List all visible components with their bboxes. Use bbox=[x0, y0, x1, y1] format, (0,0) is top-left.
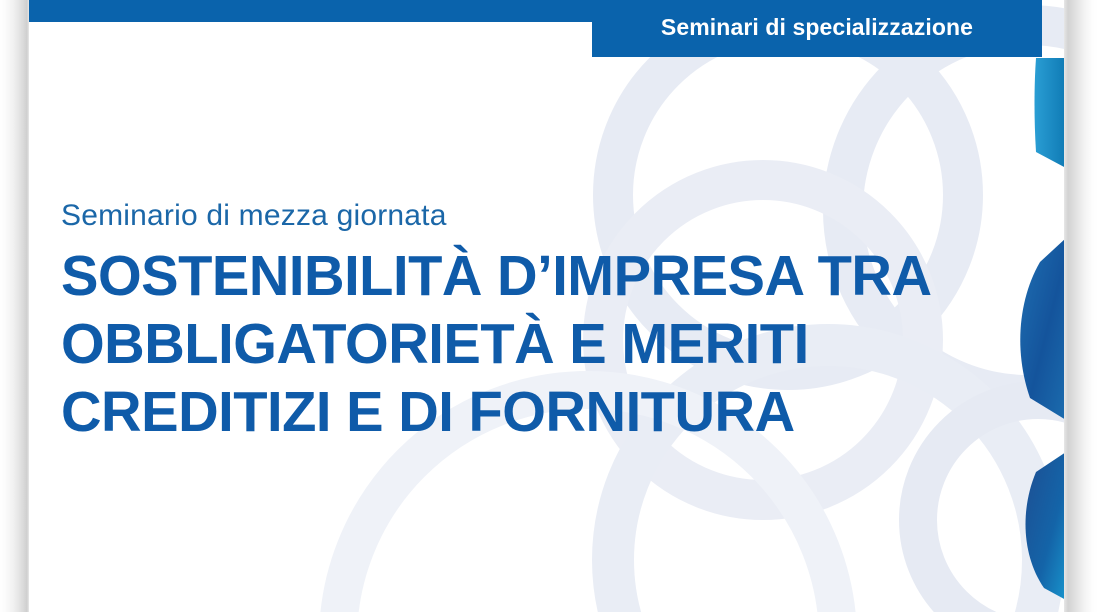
page-title: SOSTENIBILITÀ D’IMPRESA TRA OBBLIGATORIE… bbox=[61, 242, 977, 446]
title-block: Seminario di mezza giornata SOSTENIBILIT… bbox=[61, 196, 991, 446]
seminar-kicker: Seminario di mezza giornata bbox=[61, 196, 991, 236]
page-title-line-3: CREDITIZI E DI FORNITURA bbox=[61, 378, 977, 446]
page-title-line-1: SOSTENIBILITÀ D’IMPRESA TRA bbox=[61, 242, 977, 310]
poster-canvas: Seminari di specializzazione Seminario d… bbox=[0, 0, 1098, 612]
seminar-category-label: Seminari di specializzazione bbox=[661, 14, 973, 43]
poster-page: Seminari di specializzazione Seminario d… bbox=[28, 0, 1066, 612]
page-title-line-2: OBBLIGATORIETÀ E MERITI bbox=[61, 310, 977, 378]
seminar-category-banner: Seminari di specializzazione bbox=[592, 0, 1042, 57]
page-edge-shadow-right bbox=[1064, 0, 1098, 612]
page-edge-shadow-left bbox=[0, 0, 29, 612]
